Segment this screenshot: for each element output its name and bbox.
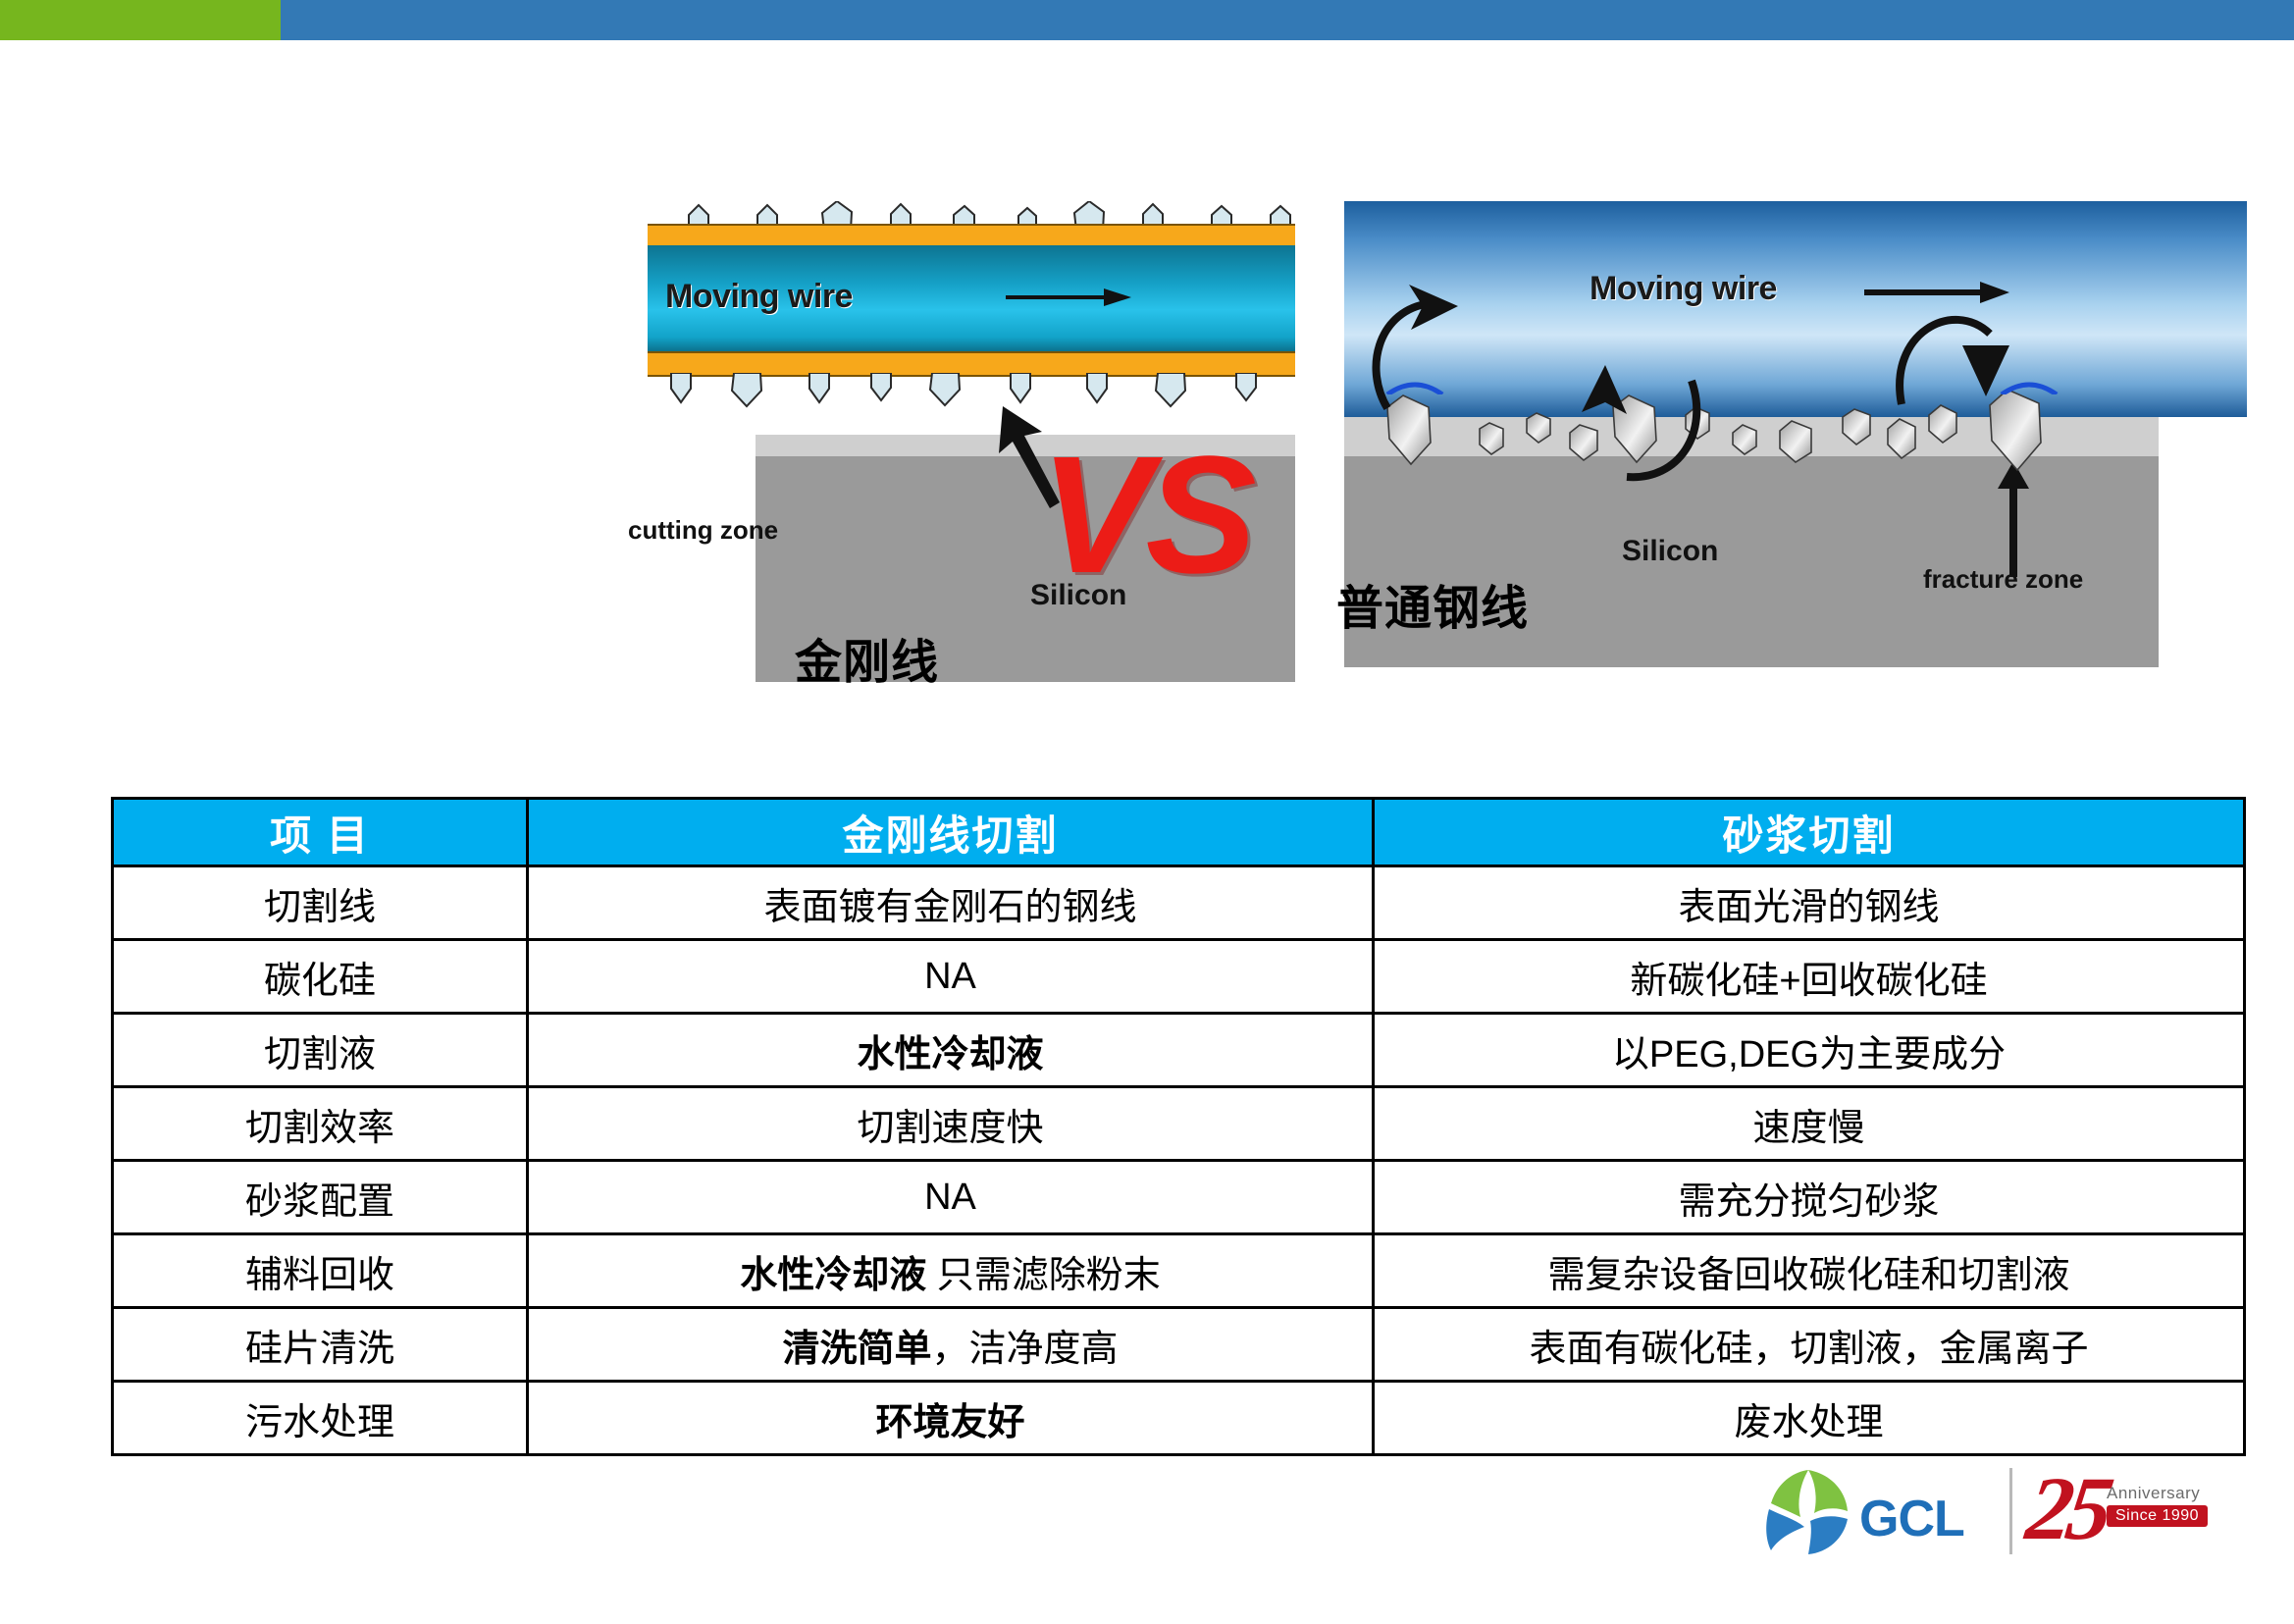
gcl-logo: GCL 25 Anniversary Since 1990: [1761, 1462, 2262, 1570]
cell-diamond-bold: 清洗简单: [782, 1329, 931, 1370]
table-row: 切割液 水性冷却液 以PEG,DEG为主要成分: [113, 1014, 2245, 1087]
versus-mark: VS: [1040, 442, 1251, 589]
cell-slurry: 以PEG,DEG为主要成分: [1374, 1014, 2245, 1087]
moving-wire-label-left: Moving wire: [665, 278, 853, 316]
cell-diamond-text: NA: [924, 956, 976, 997]
steel-wire-slurry-diagram: Moving wire fracture zone Silicon 普通钢线: [1295, 177, 2247, 716]
cell-diamond: NA: [528, 1161, 1374, 1234]
moving-wire-arrow-left: [1006, 285, 1133, 310]
cell-item: 污水处理: [113, 1382, 528, 1455]
cell-diamond-bold: 水性冷却液: [740, 1255, 926, 1296]
cell-item: 切割线: [113, 866, 528, 940]
cell-diamond: 切割速度快: [528, 1087, 1374, 1161]
table-row: 污水处理 环境友好 废水处理: [113, 1382, 2245, 1455]
steel-wire-title: 普通钢线: [1336, 569, 1529, 638]
cell-diamond: 水性冷却液 只需滤除粉末: [528, 1234, 1374, 1308]
gcl-globe-icon: [1761, 1464, 1855, 1558]
cell-item: 碳化硅: [113, 940, 528, 1014]
cell-diamond: 环境友好: [528, 1382, 1374, 1455]
cutting-zone-label: cutting zone: [628, 515, 778, 546]
fracture-zone-label: fracture zone: [1923, 564, 2083, 595]
rolling-arrow-right: [1894, 294, 2021, 412]
top-accent-bar: [0, 0, 2294, 40]
gcl-wordmark: GCL: [1859, 1490, 1964, 1548]
cell-diamond-bold: 水性冷却液: [857, 1034, 1043, 1075]
top-bar-green-segment: [0, 0, 281, 40]
cell-item: 辅料回收: [113, 1234, 528, 1308]
cell-slurry: 需复杂设备回收碳化硅和切割液: [1374, 1234, 2245, 1308]
diamond-wire-title: 金刚线: [795, 623, 939, 692]
table-row: 辅料回收 水性冷却液 只需滤除粉末 需复杂设备回收碳化硅和切割液: [113, 1234, 2245, 1308]
cell-diamond-text: NA: [924, 1177, 976, 1218]
moving-wire-label-right: Moving wire: [1590, 270, 1777, 308]
table-body: 切割线 表面镀有金刚石的钢线 表面光滑的钢线 碳化硅 NA 新碳化硅+回收碳化硅…: [113, 866, 2245, 1455]
top-bar-blue-segment: [281, 0, 2294, 40]
cell-diamond-text: 表面镀有金刚石的钢线: [763, 887, 1136, 928]
anniversary-word: Anniversary: [2107, 1484, 2200, 1503]
cell-diamond-text: ，洁净度高: [932, 1329, 1119, 1370]
comparison-illustration: Moving wire cutting zone Silicon 金刚线 VS: [0, 147, 2294, 697]
table-row: 砂浆配置 NA 需充分搅匀砂浆: [113, 1161, 2245, 1234]
cell-diamond: 水性冷却液: [528, 1014, 1374, 1087]
cell-diamond-text: 切割速度快: [857, 1108, 1043, 1149]
table-row: 硅片清洗 清洗简单，洁净度高 表面有碳化硅，切割液，金属离子: [113, 1308, 2245, 1382]
header-slurry: 砂浆切割: [1374, 799, 2245, 866]
table-row: 切割线 表面镀有金刚石的钢线 表面光滑的钢线: [113, 866, 2245, 940]
logo-divider: [2009, 1468, 2012, 1554]
cell-diamond: 表面镀有金刚石的钢线: [528, 866, 1374, 940]
cell-diamond-text: 只需滤除粉末: [926, 1255, 1161, 1296]
cell-item: 切割效率: [113, 1087, 528, 1161]
header-item: 项 目: [113, 799, 528, 866]
anniversary-since: Since 1990: [2107, 1505, 2208, 1527]
silicon-label-right: Silicon: [1622, 535, 1718, 568]
cell-slurry: 表面有碳化硅，切割液，金属离子: [1374, 1308, 2245, 1382]
cell-item: 硅片清洗: [113, 1308, 528, 1382]
cell-slurry: 表面光滑的钢线: [1374, 866, 2245, 940]
cell-slurry: 新碳化硅+回收碳化硅: [1374, 940, 2245, 1014]
cell-diamond: NA: [528, 940, 1374, 1014]
cell-slurry: 废水处理: [1374, 1382, 2245, 1455]
anniversary-number: 25: [2021, 1456, 2114, 1560]
table-row: 切割效率 切割速度快 速度慢: [113, 1087, 2245, 1161]
cell-item: 切割液: [113, 1014, 528, 1087]
cell-diamond: 清洗简单，洁净度高: [528, 1308, 1374, 1382]
header-diamond: 金刚线切割: [528, 799, 1374, 866]
table-row: 碳化硅 NA 新碳化硅+回收碳化硅: [113, 940, 2245, 1014]
comparison-table: 项 目 金刚线切割 砂浆切割 切割线 表面镀有金刚石的钢线 表面光滑的钢线 碳化…: [111, 797, 2246, 1456]
diamond-grain-row-bottom: [648, 373, 1295, 408]
table-header-row: 项 目 金刚线切割 砂浆切割: [113, 799, 2245, 866]
cell-slurry: 需充分搅匀砂浆: [1374, 1161, 2245, 1234]
cell-diamond-bold: 环境友好: [875, 1402, 1024, 1443]
cell-slurry: 速度慢: [1374, 1087, 2245, 1161]
rolling-arrow-left: [1368, 285, 1486, 412]
cell-item: 砂浆配置: [113, 1161, 528, 1234]
rolling-arrow-middle: [1572, 363, 1709, 491]
